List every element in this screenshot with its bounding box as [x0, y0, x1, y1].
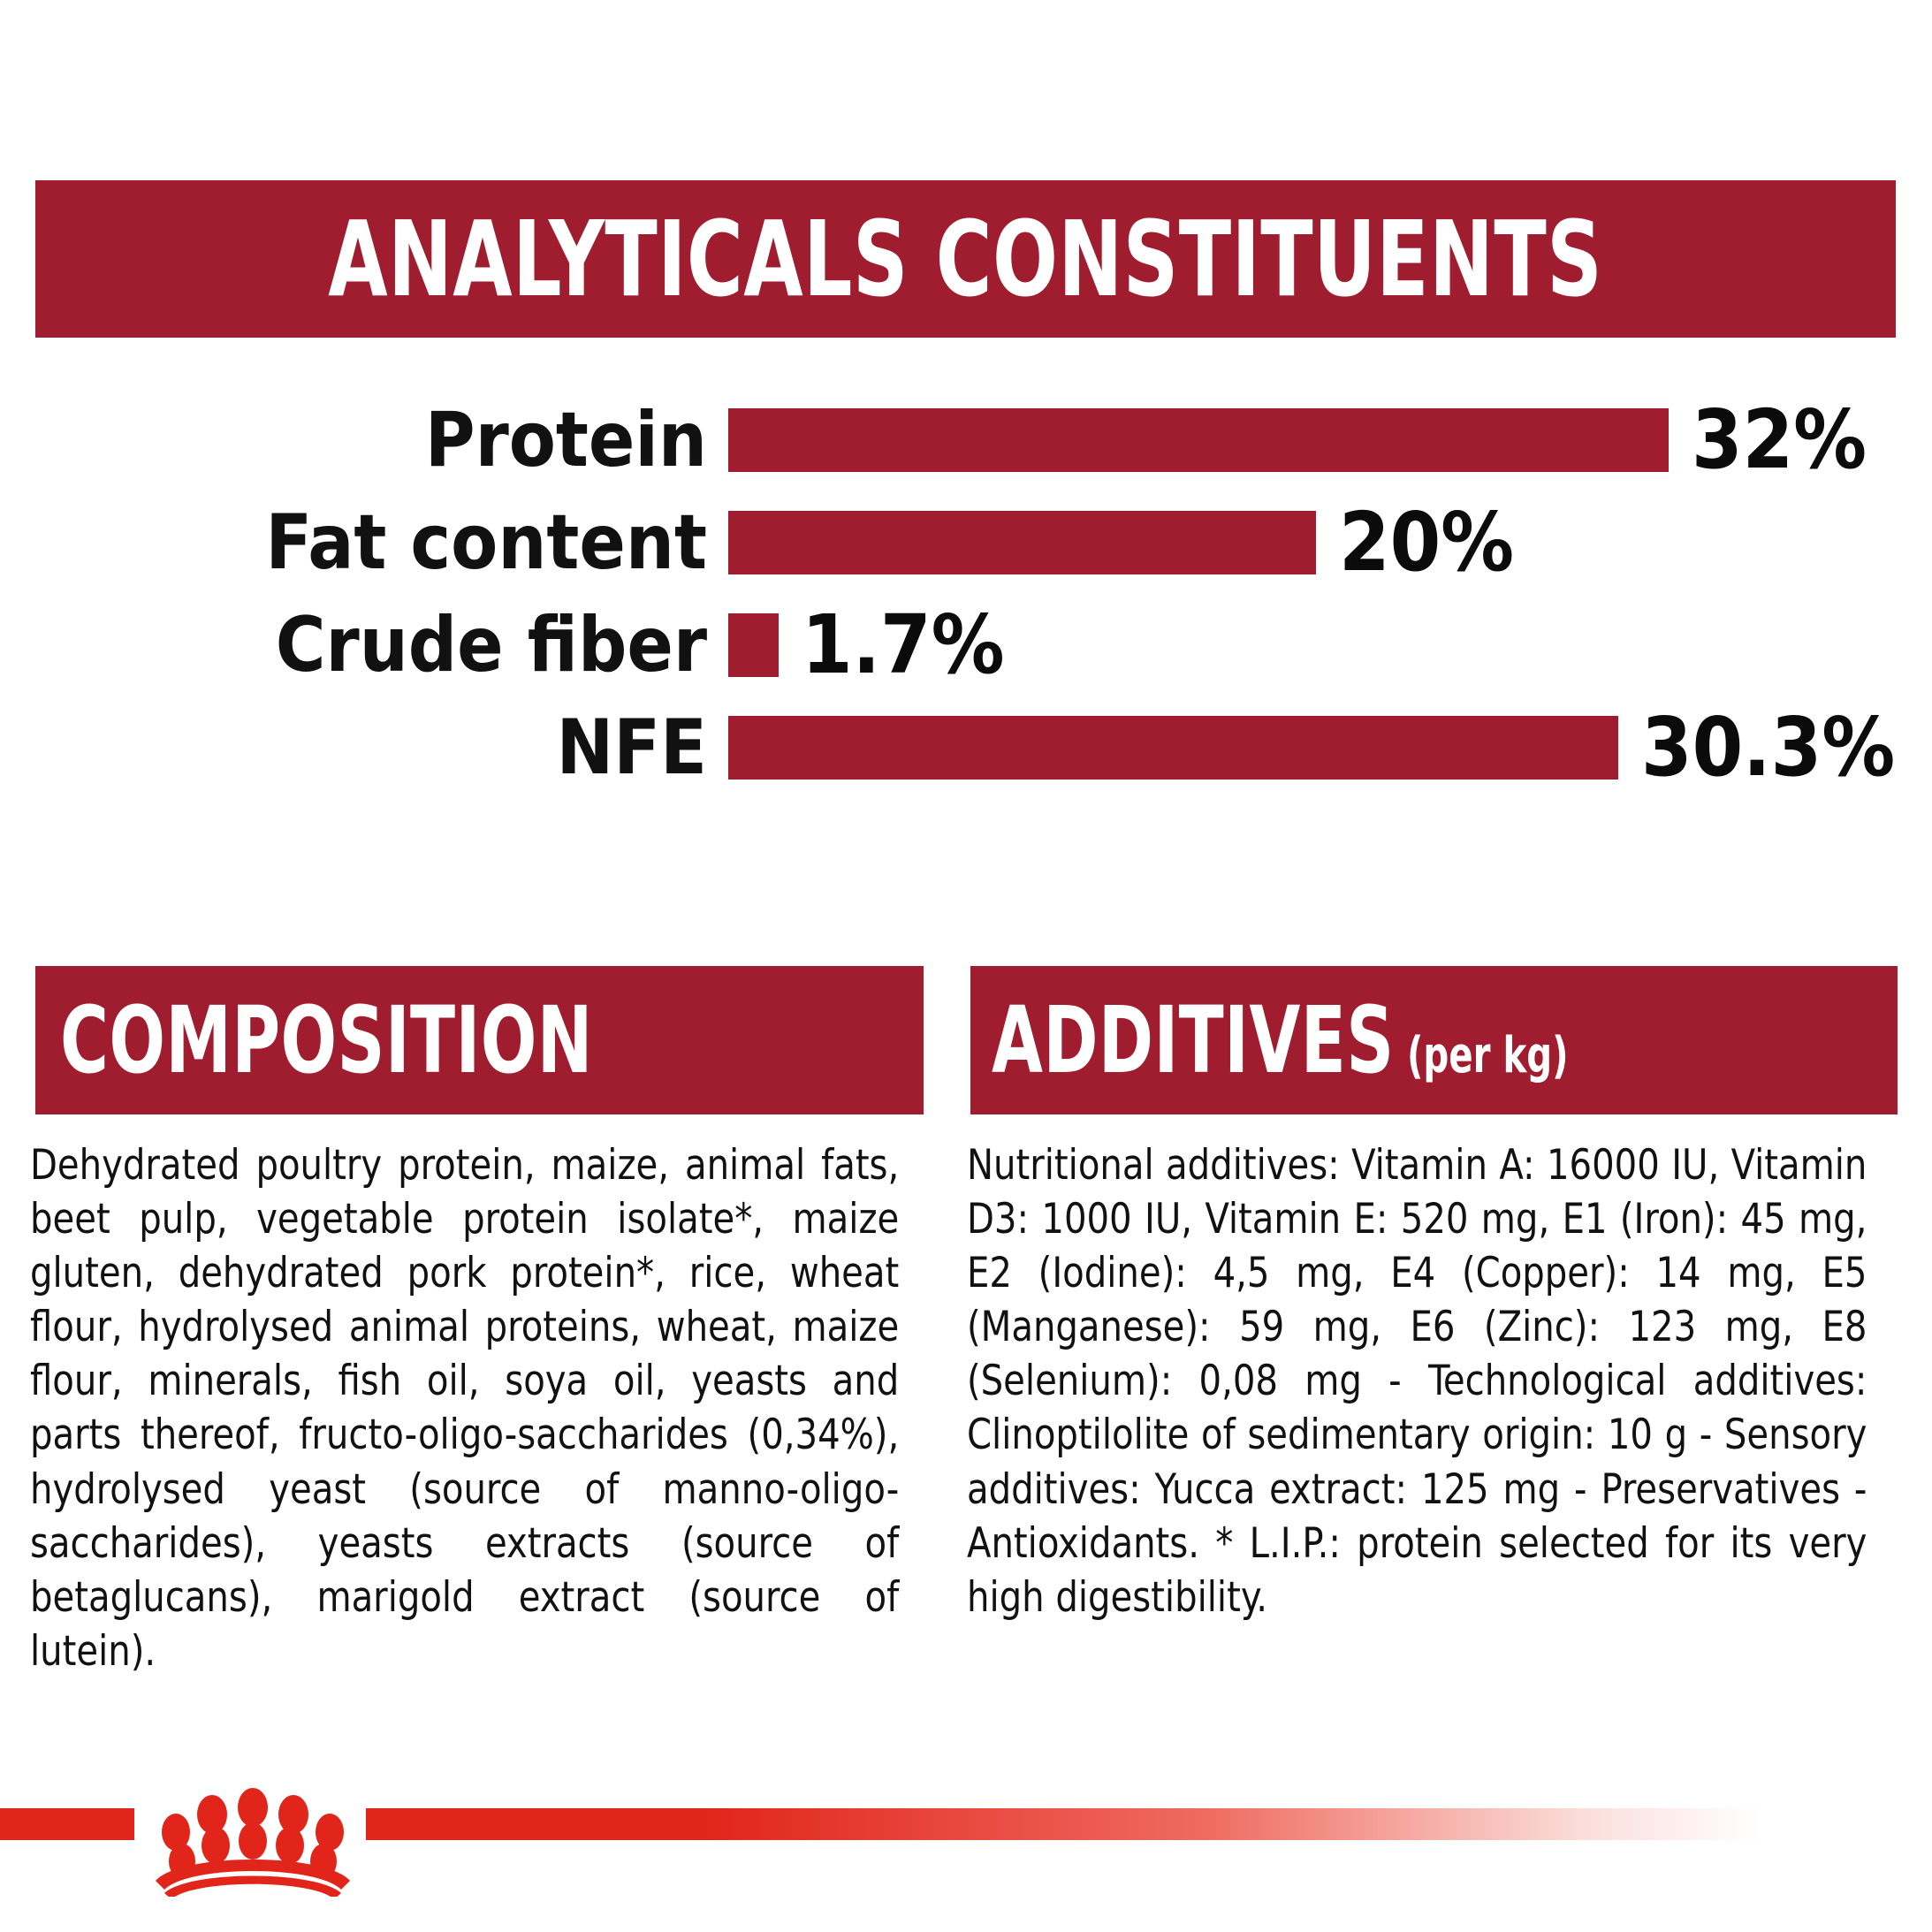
chart-category-label: Protein [425, 402, 707, 478]
footer-stripe-left [0, 1808, 134, 1840]
chart-bar [728, 716, 1618, 780]
additives-subtitle: (per kg) [1407, 1031, 1569, 1081]
royal-canin-crown-logo [140, 1787, 366, 1897]
chart-bar [728, 511, 1316, 574]
additives-title: ADDITIVES [992, 994, 1395, 1086]
chart-category-label: Fat content [265, 505, 707, 581]
composition-body-text: Dehydrated poultry protein, maize, anima… [30, 1138, 899, 1678]
footer [0, 1787, 1932, 1932]
composition-title: COMPOSITION [60, 994, 593, 1086]
analyticals-bar-chart: Protein32%Fat content20%Crude fiber1.7%N… [0, 389, 1932, 848]
chart-row: Crude fiber1.7% [0, 594, 1932, 696]
chart-value-label: 32% [1692, 399, 1867, 481]
chart-bar [728, 408, 1669, 472]
footer-stripe-right [366, 1808, 1761, 1840]
composition-header: COMPOSITION [35, 966, 924, 1114]
chart-row: Fat content20% [0, 491, 1932, 594]
chart-category-label: Crude fiber [276, 607, 707, 683]
additives-title-group: ADDITIVES (per kg) [992, 994, 1569, 1086]
chart-category-label: NFE [557, 710, 708, 786]
nutrition-label-page: ANALYTICALS CONSTITUENTS Protein32%Fat c… [0, 0, 1932, 1932]
additives-body-text: Nutritional additives: Vitamin A: 16000 … [967, 1138, 1867, 1624]
chart-row: Protein32% [0, 389, 1932, 491]
chart-value-label: 20% [1339, 502, 1514, 583]
analyticals-constituents-header: ANALYTICALS CONSTITUENTS [35, 180, 1896, 338]
additives-header: ADDITIVES (per kg) [970, 966, 1898, 1114]
chart-bar [728, 613, 779, 677]
analyticals-constituents-title: ANALYTICALS CONSTITUENTS [329, 207, 1603, 311]
chart-row: NFE30.3% [0, 696, 1932, 799]
chart-value-label: 30.3% [1641, 707, 1895, 788]
chart-value-label: 1.7% [802, 605, 1005, 686]
